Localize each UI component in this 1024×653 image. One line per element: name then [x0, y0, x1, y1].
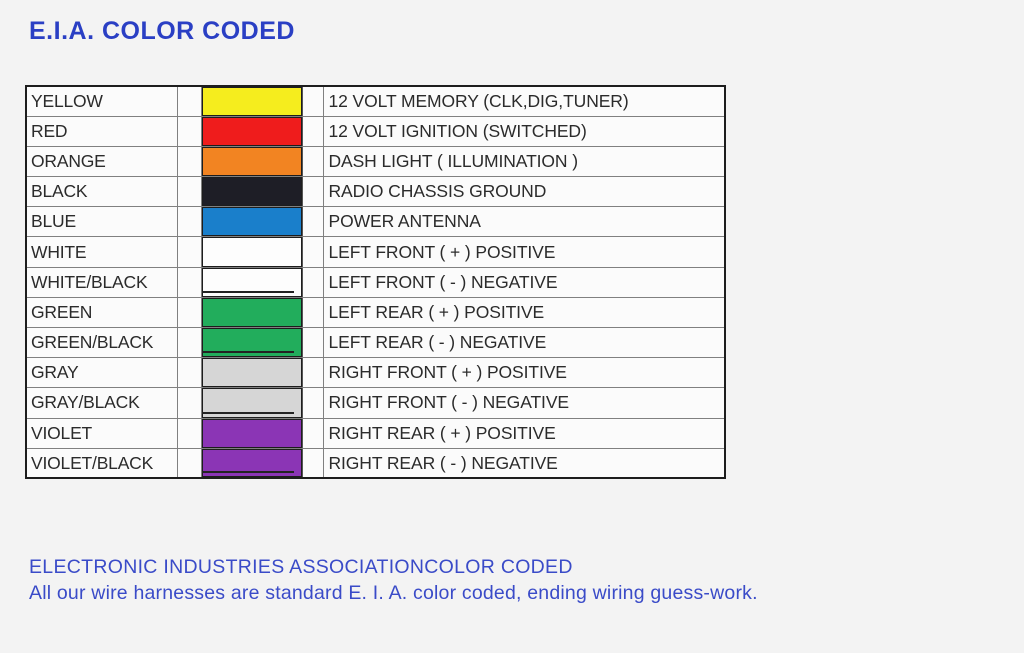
wire-color-table-body: YELLOW12 VOLT MEMORY (CLK,DIG,TUNER)RED1…: [26, 86, 725, 478]
wire-color-swatch-cell: [201, 86, 302, 116]
table-row: WHITELEFT FRONT ( + ) POSITIVE: [26, 237, 725, 267]
wire-function-description: RIGHT REAR ( - ) NEGATIVE: [323, 448, 725, 478]
wire-color-swatch-cell: [201, 388, 302, 418]
spacer-cell-left: [177, 86, 201, 116]
wire-color-swatch-cell: [201, 116, 302, 146]
black-tracer-stripe: [202, 471, 294, 473]
spacer-cell-left: [177, 328, 201, 358]
table-row: GREEN/BLACKLEFT REAR ( - ) NEGATIVE: [26, 328, 725, 358]
table-row: RED12 VOLT IGNITION (SWITCHED): [26, 116, 725, 146]
wire-color-name: GRAY/BLACK: [26, 388, 177, 418]
spacer-cell-left: [177, 297, 201, 327]
wire-color-name: ORANGE: [26, 146, 177, 176]
black-tracer-stripe: [202, 351, 294, 353]
wire-color-swatch: [202, 87, 302, 116]
wire-function-description: RIGHT FRONT ( + ) POSITIVE: [323, 358, 725, 388]
table-row: VIOLETRIGHT REAR ( + ) POSITIVE: [26, 418, 725, 448]
wire-color-name: RED: [26, 116, 177, 146]
wire-color-name: BLUE: [26, 207, 177, 237]
spacer-cell-right: [302, 358, 323, 388]
wire-color-name: GREEN/BLACK: [26, 328, 177, 358]
spacer-cell-right: [302, 86, 323, 116]
wire-color-name: WHITE: [26, 237, 177, 267]
wire-color-swatch: [202, 237, 302, 266]
caption-line-1: ELECTRONIC INDUSTRIES ASSOCIATIONCOLOR C…: [29, 554, 758, 580]
wire-color-swatch-cell: [201, 207, 302, 237]
wire-color-swatch-cell: [201, 146, 302, 176]
wire-color-name: BLACK: [26, 177, 177, 207]
black-tracer-stripe: [202, 291, 294, 293]
page-title: E.I.A. COLOR CODED: [29, 17, 295, 46]
spacer-cell-left: [177, 207, 201, 237]
caption-block: ELECTRONIC INDUSTRIES ASSOCIATIONCOLOR C…: [29, 554, 758, 606]
eia-color-code-chart: E.I.A. COLOR CODED YELLOW12 VOLT MEMORY …: [0, 0, 1024, 653]
spacer-cell-right: [302, 207, 323, 237]
spacer-cell-left: [177, 116, 201, 146]
wire-function-description: RADIO CHASSIS GROUND: [323, 177, 725, 207]
table-row: YELLOW12 VOLT MEMORY (CLK,DIG,TUNER): [26, 86, 725, 116]
wire-color-swatch-cell: [201, 358, 302, 388]
wire-function-description: LEFT FRONT ( + ) POSITIVE: [323, 237, 725, 267]
table-row: GREENLEFT REAR ( + ) POSITIVE: [26, 297, 725, 327]
wire-function-description: RIGHT REAR ( + ) POSITIVE: [323, 418, 725, 448]
table-row: VIOLET/BLACKRIGHT REAR ( - ) NEGATIVE: [26, 448, 725, 478]
wire-color-swatch: [202, 177, 302, 206]
wire-color-swatch: [202, 419, 302, 448]
spacer-cell-right: [302, 237, 323, 267]
wire-color-swatch: [202, 358, 302, 387]
spacer-cell-left: [177, 177, 201, 207]
spacer-cell-left: [177, 146, 201, 176]
table-row: BLUEPOWER ANTENNA: [26, 207, 725, 237]
spacer-cell-right: [302, 448, 323, 478]
wire-function-description: DASH LIGHT ( ILLUMINATION ): [323, 146, 725, 176]
wire-color-name: VIOLET: [26, 418, 177, 448]
wire-color-swatch-cell: [201, 297, 302, 327]
wire-color-name: VIOLET/BLACK: [26, 448, 177, 478]
table-row: BLACKRADIO CHASSIS GROUND: [26, 177, 725, 207]
table-row: ORANGEDASH LIGHT ( ILLUMINATION ): [26, 146, 725, 176]
spacer-cell-left: [177, 237, 201, 267]
spacer-cell-right: [302, 177, 323, 207]
wire-function-description: LEFT REAR ( - ) NEGATIVE: [323, 328, 725, 358]
spacer-cell-left: [177, 358, 201, 388]
wire-color-name: YELLOW: [26, 86, 177, 116]
spacer-cell-right: [302, 116, 323, 146]
wire-color-swatch: [202, 117, 302, 146]
spacer-cell-right: [302, 328, 323, 358]
wire-color-swatch-cell: [201, 177, 302, 207]
caption-line-2: All our wire harnesses are standard E. I…: [29, 580, 758, 606]
wire-color-swatch-cell: [201, 328, 302, 358]
wire-color-name: WHITE/BLACK: [26, 267, 177, 297]
table-row: GRAY/BLACKRIGHT FRONT ( - ) NEGATIVE: [26, 388, 725, 418]
black-tracer-stripe: [202, 412, 294, 414]
spacer-cell-left: [177, 418, 201, 448]
spacer-cell-right: [302, 418, 323, 448]
table-row: WHITE/BLACKLEFT FRONT ( - ) NEGATIVE: [26, 267, 725, 297]
wire-color-swatch: [202, 207, 302, 236]
wire-color-name: GREEN: [26, 297, 177, 327]
spacer-cell-left: [177, 267, 201, 297]
table-row: GRAYRIGHT FRONT ( + ) POSITIVE: [26, 358, 725, 388]
wire-function-description: POWER ANTENNA: [323, 207, 725, 237]
wire-function-description: LEFT REAR ( + ) POSITIVE: [323, 297, 725, 327]
spacer-cell-left: [177, 388, 201, 418]
wire-color-swatch-cell: [201, 267, 302, 297]
wire-function-description: RIGHT FRONT ( - ) NEGATIVE: [323, 388, 725, 418]
wire-color-swatch: [202, 298, 302, 327]
wire-color-table: YELLOW12 VOLT MEMORY (CLK,DIG,TUNER)RED1…: [25, 85, 726, 479]
spacer-cell-right: [302, 297, 323, 327]
spacer-cell-right: [302, 146, 323, 176]
spacer-cell-left: [177, 448, 201, 478]
wire-function-description: 12 VOLT MEMORY (CLK,DIG,TUNER): [323, 86, 725, 116]
spacer-cell-right: [302, 267, 323, 297]
wire-function-description: LEFT FRONT ( - ) NEGATIVE: [323, 267, 725, 297]
wire-color-swatch: [202, 147, 302, 176]
wire-color-name: GRAY: [26, 358, 177, 388]
wire-color-swatch-cell: [201, 448, 302, 478]
wire-function-description: 12 VOLT IGNITION (SWITCHED): [323, 116, 725, 146]
wire-color-swatch-cell: [201, 237, 302, 267]
spacer-cell-right: [302, 388, 323, 418]
wire-color-swatch-cell: [201, 418, 302, 448]
